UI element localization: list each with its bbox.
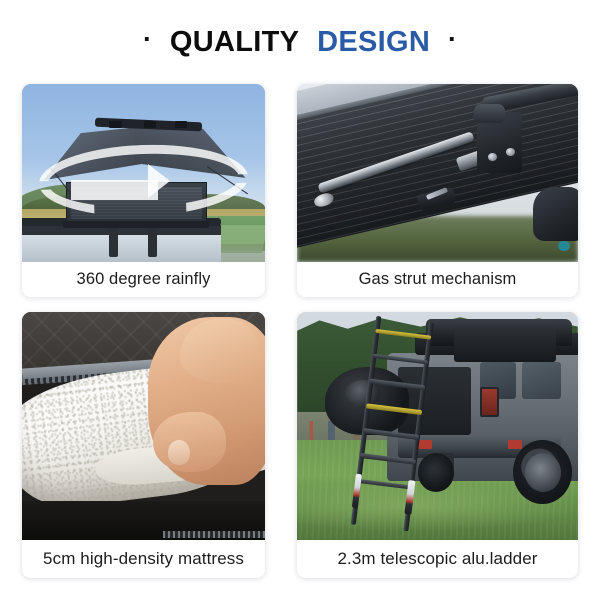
product-feature-grid: · QUALITY DESIGN · xyxy=(0,0,600,600)
bottom-zipper-stitch xyxy=(163,531,265,538)
bumper-reflector-right xyxy=(508,440,522,449)
gas-strut-scene xyxy=(297,84,578,262)
arrow-head-icon xyxy=(148,164,170,198)
feature-card-rainfly[interactable]: 360 degree rainfly xyxy=(22,84,265,297)
ladder-rung xyxy=(372,354,429,365)
feature-caption-mattress: 5cm high-density mattress xyxy=(22,540,265,578)
ladder-rung xyxy=(360,453,417,464)
rooftop-tent-scene xyxy=(22,84,265,262)
feature-card-grid: 360 degree rainfly xyxy=(22,84,578,578)
feature-caption-rainfly: 360 degree rainfly xyxy=(22,262,265,297)
ridge-hardware-3 xyxy=(175,121,187,128)
title-bullet-left: · xyxy=(143,24,152,55)
feature-card-ladder[interactable]: 2.3m telescopic alu.ladder xyxy=(297,312,578,578)
ridge-hardware-1 xyxy=(109,121,121,128)
feature-image-rainfly xyxy=(22,84,265,262)
feature-image-ladder xyxy=(297,312,578,540)
ridge-hardware-2 xyxy=(144,121,156,128)
ladder-rung xyxy=(363,429,420,440)
roof-rail-end-cap xyxy=(474,104,505,124)
thumbnail xyxy=(168,440,190,465)
mirror-indicator-light xyxy=(558,241,569,252)
tent-floor-panel xyxy=(63,221,209,228)
jeep-taillight xyxy=(480,387,500,417)
feature-card-mattress[interactable]: 5cm high-density mattress xyxy=(22,312,265,578)
ladder-rung xyxy=(375,329,432,340)
feature-caption-gas-strut: Gas strut mechanism xyxy=(297,262,578,297)
vehicle-mirror xyxy=(533,187,578,240)
bracket-bolt-1 xyxy=(488,153,497,160)
feature-caption-ladder: 2.3m telescopic alu.ladder xyxy=(297,540,578,578)
feature-image-gas-strut xyxy=(297,84,578,262)
feature-card-gas-strut[interactable]: Gas strut mechanism xyxy=(297,84,578,297)
arrow-shaft-icon xyxy=(71,180,158,200)
bracket-bolt-2 xyxy=(506,148,515,155)
title-bullet-right: · xyxy=(448,24,457,55)
thumb xyxy=(153,412,226,471)
jeep-wheel-rim xyxy=(525,453,562,492)
ladder-scene xyxy=(297,312,578,540)
feature-image-mattress xyxy=(22,312,265,540)
ladder-foot-left xyxy=(352,474,363,508)
roof-rack-bar-left xyxy=(109,225,118,257)
roof-rack-bar-right xyxy=(148,225,157,257)
page-title: · QUALITY DESIGN · xyxy=(0,26,600,59)
tent-storage-pocket xyxy=(454,326,555,362)
title-word-design: DESIGN xyxy=(317,26,430,59)
ladder-rung xyxy=(357,478,414,489)
jeep-rear-window xyxy=(522,362,561,398)
finger-upper xyxy=(180,319,260,383)
ladder-rung xyxy=(369,379,426,390)
mattress-scene xyxy=(22,312,265,540)
title-word-quality: QUALITY xyxy=(170,26,299,59)
ladder-rung xyxy=(366,404,423,415)
